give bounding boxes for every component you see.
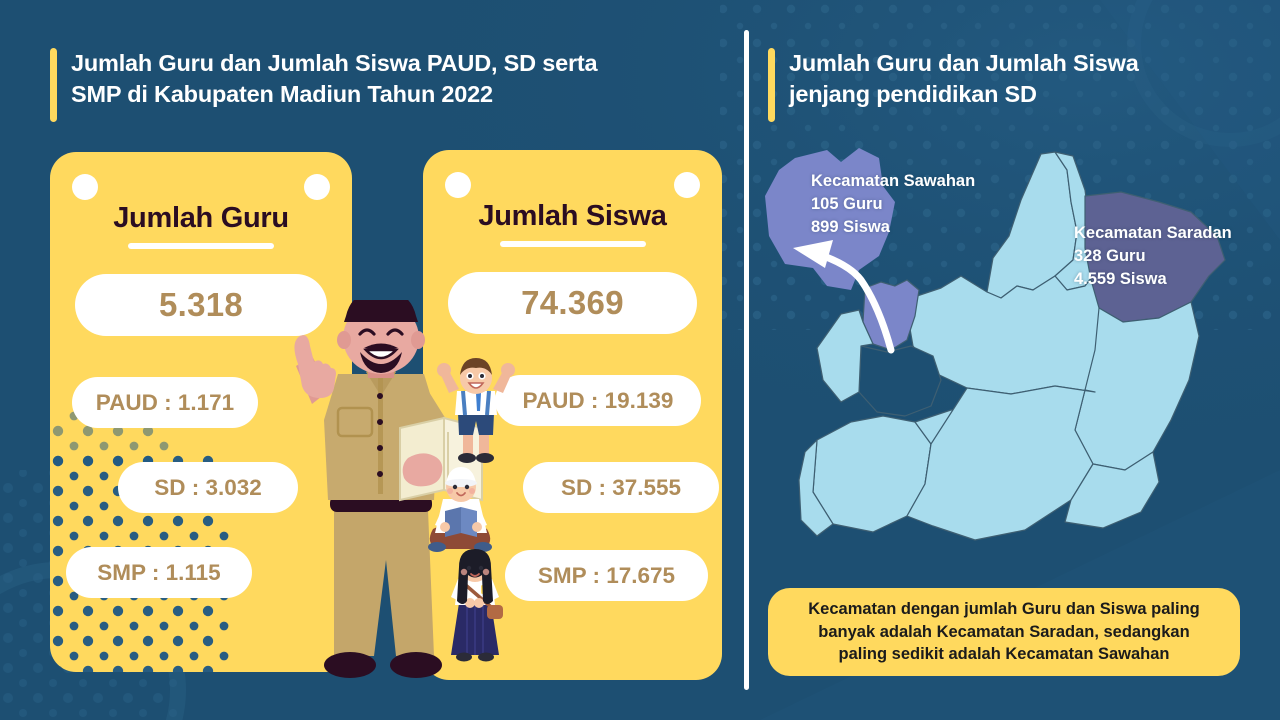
card-hole-left	[72, 174, 98, 200]
left-title-text: Jumlah Guru dan Jumlah Siswa PAUD, SD se…	[71, 48, 597, 122]
card-siswa-item-sd: SD : 37.555	[523, 462, 719, 513]
map-label-saradan-guru: 328 Guru	[1074, 245, 1232, 268]
card-siswa-total-value: 74.369	[521, 284, 624, 322]
card-guru-header: Jumlah Guru	[50, 202, 352, 249]
student-illustrations	[425, 355, 545, 665]
map-label-saradan-siswa: 4.559 Siswa	[1074, 268, 1232, 291]
card-siswa-item-sd-label: SD : 37.555	[561, 475, 681, 501]
student-boy-cheering	[437, 358, 515, 463]
card-siswa-header: Jumlah Siswa	[423, 200, 722, 247]
right-title-text: Jumlah Guru dan Jumlah Siswa jenjang pen…	[789, 48, 1139, 122]
title-accent-bar	[768, 48, 775, 122]
card-guru-item-paud-label: PAUD : 1.171	[96, 390, 234, 416]
title-accent-bar	[50, 48, 57, 122]
card-siswa-item-paud-label: PAUD : 19.139	[523, 388, 674, 414]
card-guru-total-value: 5.318	[159, 286, 243, 324]
panel-divider	[744, 30, 749, 690]
card-hole-left	[445, 172, 471, 198]
map-summary-caption: Kecamatan dengan jumlah Guru dan Siswa p…	[768, 588, 1240, 676]
card-guru-heading: Jumlah Guru	[50, 202, 352, 235]
map-label-sawahan-guru: 105 Guru	[811, 193, 975, 216]
card-guru-item-smp: SMP : 1.115	[66, 547, 252, 598]
card-hole-right	[674, 172, 700, 198]
card-siswa-heading: Jumlah Siswa	[423, 200, 722, 233]
map-summary-caption-text: Kecamatan dengan jumlah Guru dan Siswa p…	[808, 598, 1200, 666]
left-panel-title: Jumlah Guru dan Jumlah Siswa PAUD, SD se…	[50, 48, 710, 122]
student-girl	[451, 549, 503, 662]
student-boy-reading	[428, 467, 492, 552]
map-label-sawahan-name: Kecamatan Sawahan	[811, 170, 975, 193]
map-label-sawahan-siswa: 899 Siswa	[811, 216, 975, 239]
heading-underline	[128, 243, 274, 249]
card-siswa-item-smp-label: SMP : 17.675	[538, 563, 675, 589]
map-label-saradan-name: Kecamatan Saradan	[1074, 222, 1232, 245]
map-district-dark	[859, 346, 941, 416]
map-label-saradan: Kecamatan Saradan 328 Guru 4.559 Siswa	[1074, 222, 1232, 290]
heading-underline	[500, 241, 646, 247]
card-guru-item-paud: PAUD : 1.171	[72, 377, 258, 428]
card-guru-item-smp-label: SMP : 1.115	[97, 560, 220, 586]
card-guru-item-sd-label: SD : 3.032	[154, 475, 262, 501]
card-hole-right	[304, 174, 330, 200]
right-panel-title: Jumlah Guru dan Jumlah Siswa jenjang pen…	[768, 48, 1238, 122]
map-label-sawahan: Kecamatan Sawahan 105 Guru 899 Siswa	[811, 170, 975, 238]
